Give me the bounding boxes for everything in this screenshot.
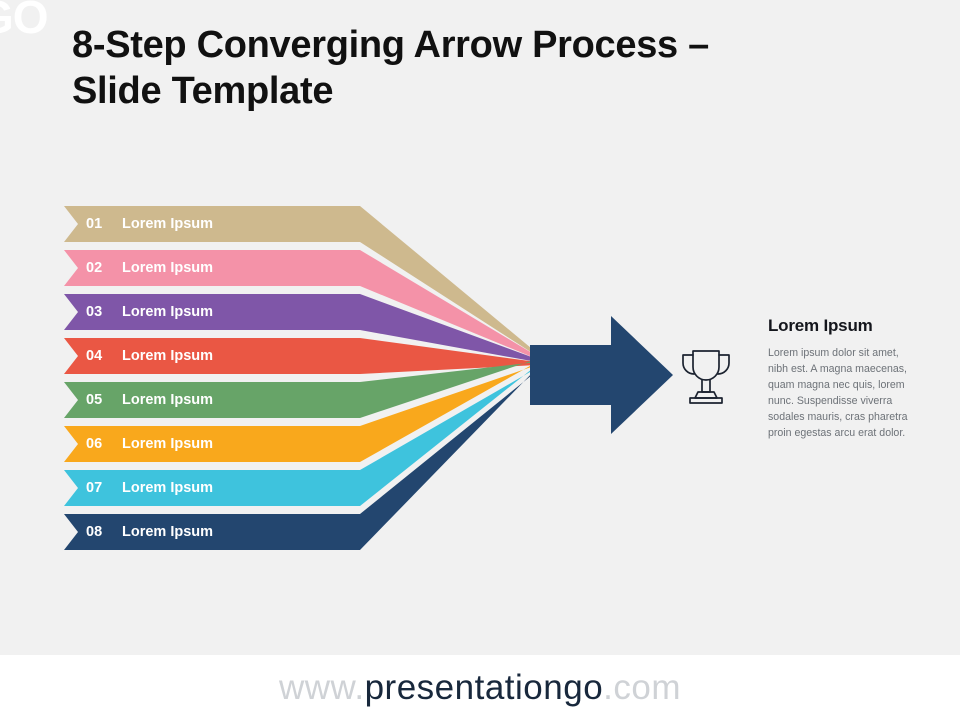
- result-heading: Lorem Ipsum: [768, 316, 873, 336]
- footer-bar: www.presentationgo.com: [0, 655, 960, 720]
- footer-url-prefix: www.: [279, 668, 365, 707]
- trophy-icon: [676, 346, 736, 410]
- slide-canvas: GO 8-Step Converging Arrow Process – Sli…: [0, 0, 960, 720]
- footer-url-suffix: .com: [603, 668, 681, 707]
- footer-url-main: presentationgo: [365, 668, 604, 707]
- arrow-right-icon: [530, 316, 673, 434]
- result-arrow[interactable]: [530, 316, 673, 434]
- footer-url: www.presentationgo.com: [279, 668, 681, 708]
- ribbons-group: [64, 206, 537, 550]
- result-body-text: Lorem ipsum dolor sit amet, nibh est. A …: [768, 345, 920, 442]
